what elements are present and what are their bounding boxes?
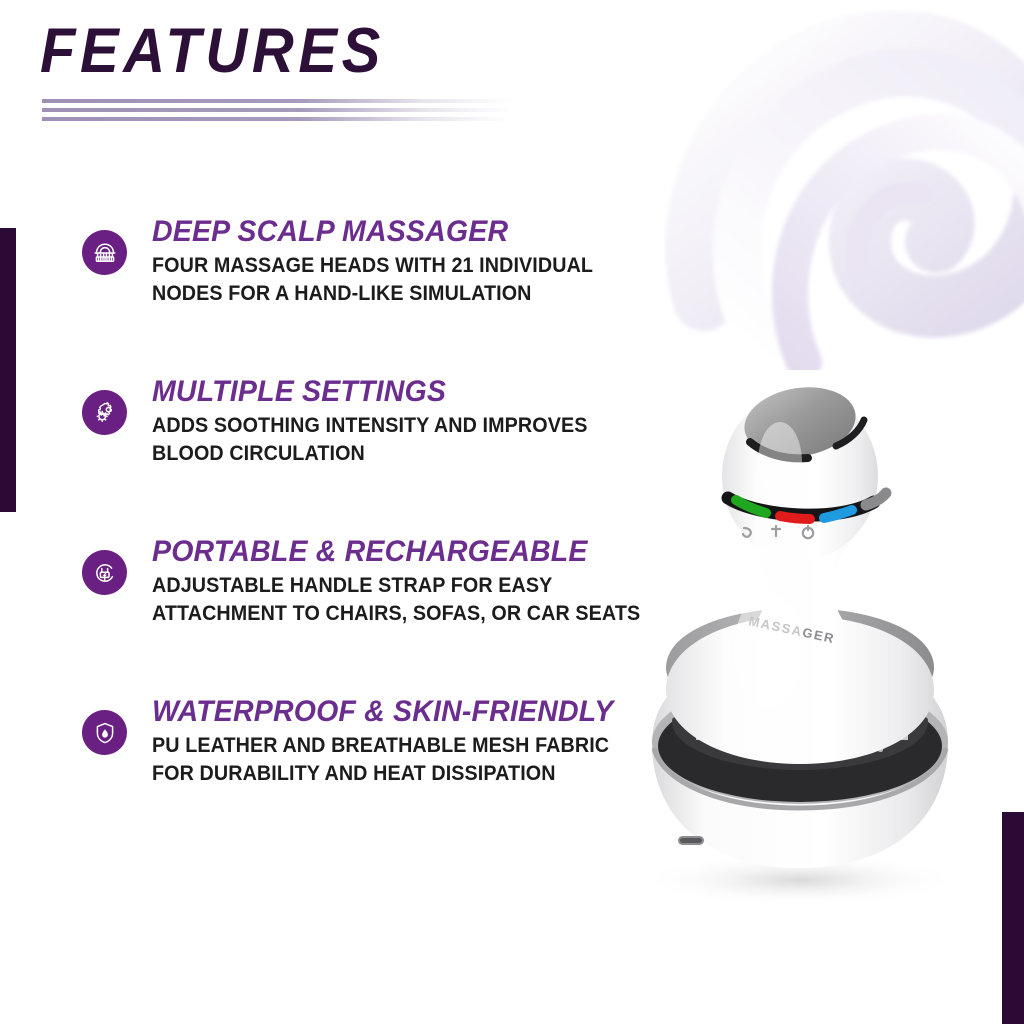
title-block: FEATURES [40, 20, 660, 126]
left-accent-bar [0, 228, 16, 512]
feature-heading: WATERPROOF & SKIN-FRIENDLY [152, 696, 599, 728]
feature-description: ADDS SOOTHING INTENSITY AND IMPROVES BLO… [152, 412, 594, 467]
feature-desc-line: ADDS SOOTHING INTENSITY AND IMPROVES [152, 412, 594, 440]
feature-desc-line: PU LEATHER AND BREATHABLE MESH FABRIC [152, 732, 594, 760]
feature-item: PORTABLE & RECHARGEABLE ADJUSTABLE HANDL… [82, 536, 622, 656]
title-rule-1 [42, 99, 512, 103]
decorative-swirl [644, 0, 1024, 370]
feature-description: ADJUSTABLE HANDLE STRAP FOR EASY ATTACHM… [152, 572, 594, 627]
feature-desc-line: NODES FOR A HAND-LIKE SIMULATION [152, 280, 594, 308]
power-plug-icon [82, 550, 127, 595]
feature-heading: MULTIPLE SETTINGS [152, 376, 599, 408]
feature-desc-line: FOUR MASSAGE HEADS WITH 21 INDIVIDUAL [152, 252, 594, 280]
feature-text: DEEP SCALP MASSAGER FOUR MASSAGE HEADS W… [152, 216, 622, 307]
title-rule-3 [42, 117, 512, 121]
feature-desc-line: ADJUSTABLE HANDLE STRAP FOR EASY [152, 572, 594, 600]
feature-text: MULTIPLE SETTINGS ADDS SOOTHING INTENSIT… [152, 376, 622, 467]
feature-item: WATERPROOF & SKIN-FRIENDLY PU LEATHER AN… [82, 696, 622, 816]
feature-text: WATERPROOF & SKIN-FRIENDLY PU LEATHER AN… [152, 696, 622, 787]
feature-text: PORTABLE & RECHARGEABLE ADJUSTABLE HANDL… [152, 536, 622, 627]
title-rule-2 [42, 108, 512, 112]
feature-desc-line: ATTACHMENT TO CHAIRS, SOFAS, OR CAR SEAT… [152, 600, 594, 628]
gears-icon [82, 390, 127, 435]
feature-heading: PORTABLE & RECHARGEABLE [152, 536, 599, 568]
page-title: FEATURES [40, 20, 610, 83]
feature-heading: DEEP SCALP MASSAGER [152, 216, 599, 248]
feature-desc-line: FOR DURABILITY AND HEAT DISSIPATION [152, 760, 594, 788]
feature-list: DEEP SCALP MASSAGER FOUR MASSAGE HEADS W… [82, 216, 622, 816]
feature-item: MULTIPLE SETTINGS ADDS SOOTHING INTENSIT… [82, 376, 622, 496]
feature-description: FOUR MASSAGE HEADS WITH 21 INDIVIDUAL NO… [152, 252, 594, 307]
shield-droplet-icon [82, 710, 127, 755]
product-image: MASSAGER [600, 350, 1000, 950]
feature-description: PU LEATHER AND BREATHABLE MESH FABRIC FO… [152, 732, 594, 787]
feature-item: DEEP SCALP MASSAGER FOUR MASSAGE HEADS W… [82, 216, 622, 336]
right-accent-bar [1002, 812, 1024, 1024]
title-underline-rules [42, 99, 512, 121]
feature-desc-line: BLOOD CIRCULATION [152, 440, 594, 468]
infographic-page: FEATURES [0, 0, 1024, 1024]
scalp-massager-icon [82, 230, 127, 275]
